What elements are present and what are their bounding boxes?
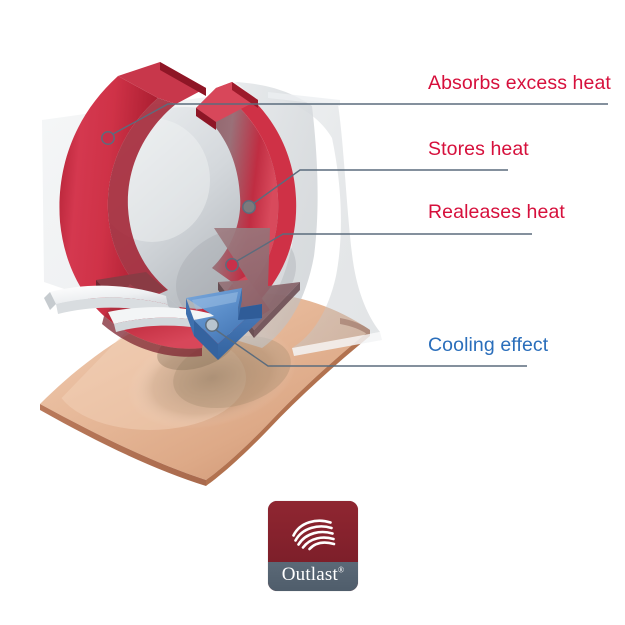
logo-trademark: ® — [338, 566, 344, 575]
marker-releases — [226, 259, 238, 271]
marker-absorbs — [102, 132, 114, 144]
callout-label-stores: Stores heat — [428, 140, 529, 160]
logo-card: Outlast® — [268, 501, 358, 591]
logo-wordmark: Outlast® — [268, 564, 358, 586]
infographic-canvas: Absorbs excess heat Stores heat Realease… — [0, 0, 625, 625]
marker-stores — [243, 201, 255, 213]
callout-label-absorbs: Absorbs excess heat — [428, 74, 611, 94]
swoosh-wave-emblem-icon — [290, 515, 338, 551]
callout-label-cooling: Cooling effect — [428, 336, 548, 356]
marker-cooling — [206, 319, 218, 331]
logo-brand-text: Outlast — [282, 564, 338, 585]
callout-label-releases: Realeases heat — [428, 203, 565, 223]
outlast-logo: Outlast® — [268, 501, 358, 591]
